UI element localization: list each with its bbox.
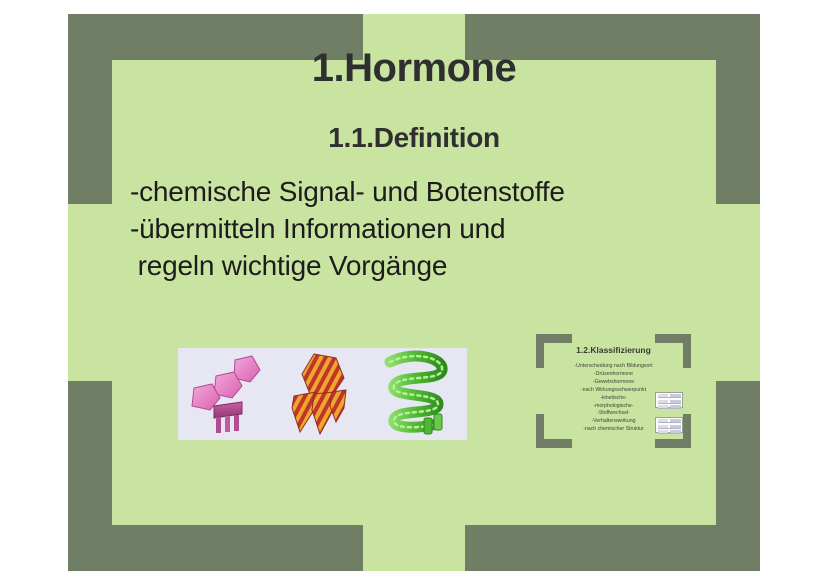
- green-helix-protein-structure-icon: [368, 348, 464, 440]
- body-line: regeln wichtige Vorgänge: [130, 248, 730, 285]
- molecule-illustration-panel: [178, 348, 467, 440]
- corner-bracket-top-left-vertical: [68, 14, 112, 204]
- mini-slide-table-upper: [655, 392, 683, 408]
- mini-slide-title: 1.2.Klassifizierung: [536, 345, 691, 355]
- corner-bracket-bottom-right-vertical: [716, 381, 760, 571]
- steroid-ring-structure-icon: [180, 348, 276, 440]
- mini-body-line: -Gewebshormone: [536, 379, 691, 387]
- mini-body-line: -Drüsenhormone: [536, 371, 691, 379]
- presentation-slide: 1.Hormone 1.1.Definition -chemische Sign…: [68, 14, 760, 571]
- corner-bracket-bottom-left-vertical: [68, 381, 112, 571]
- slide-title: 1.Hormone: [68, 46, 760, 91]
- mini-slide-table-lower: [655, 417, 683, 433]
- body-line: -chemische Signal- und Botenstoffe: [130, 174, 730, 211]
- body-line: -übermitteln Informationen und: [130, 211, 730, 248]
- striped-peptide-structure-icon: [274, 348, 370, 440]
- slide-body-text: -chemische Signal- und Botenstoffe -über…: [130, 174, 730, 285]
- mini-body-line: -Unterscheidung nach Bildungsort: [536, 363, 691, 371]
- slide-subtitle: 1.1.Definition: [68, 122, 760, 154]
- corner-bracket-bottom-left-horizontal: [68, 525, 363, 571]
- nested-classification-slide: 1.2.Klassifizierung -Unterscheidung nach…: [536, 334, 691, 448]
